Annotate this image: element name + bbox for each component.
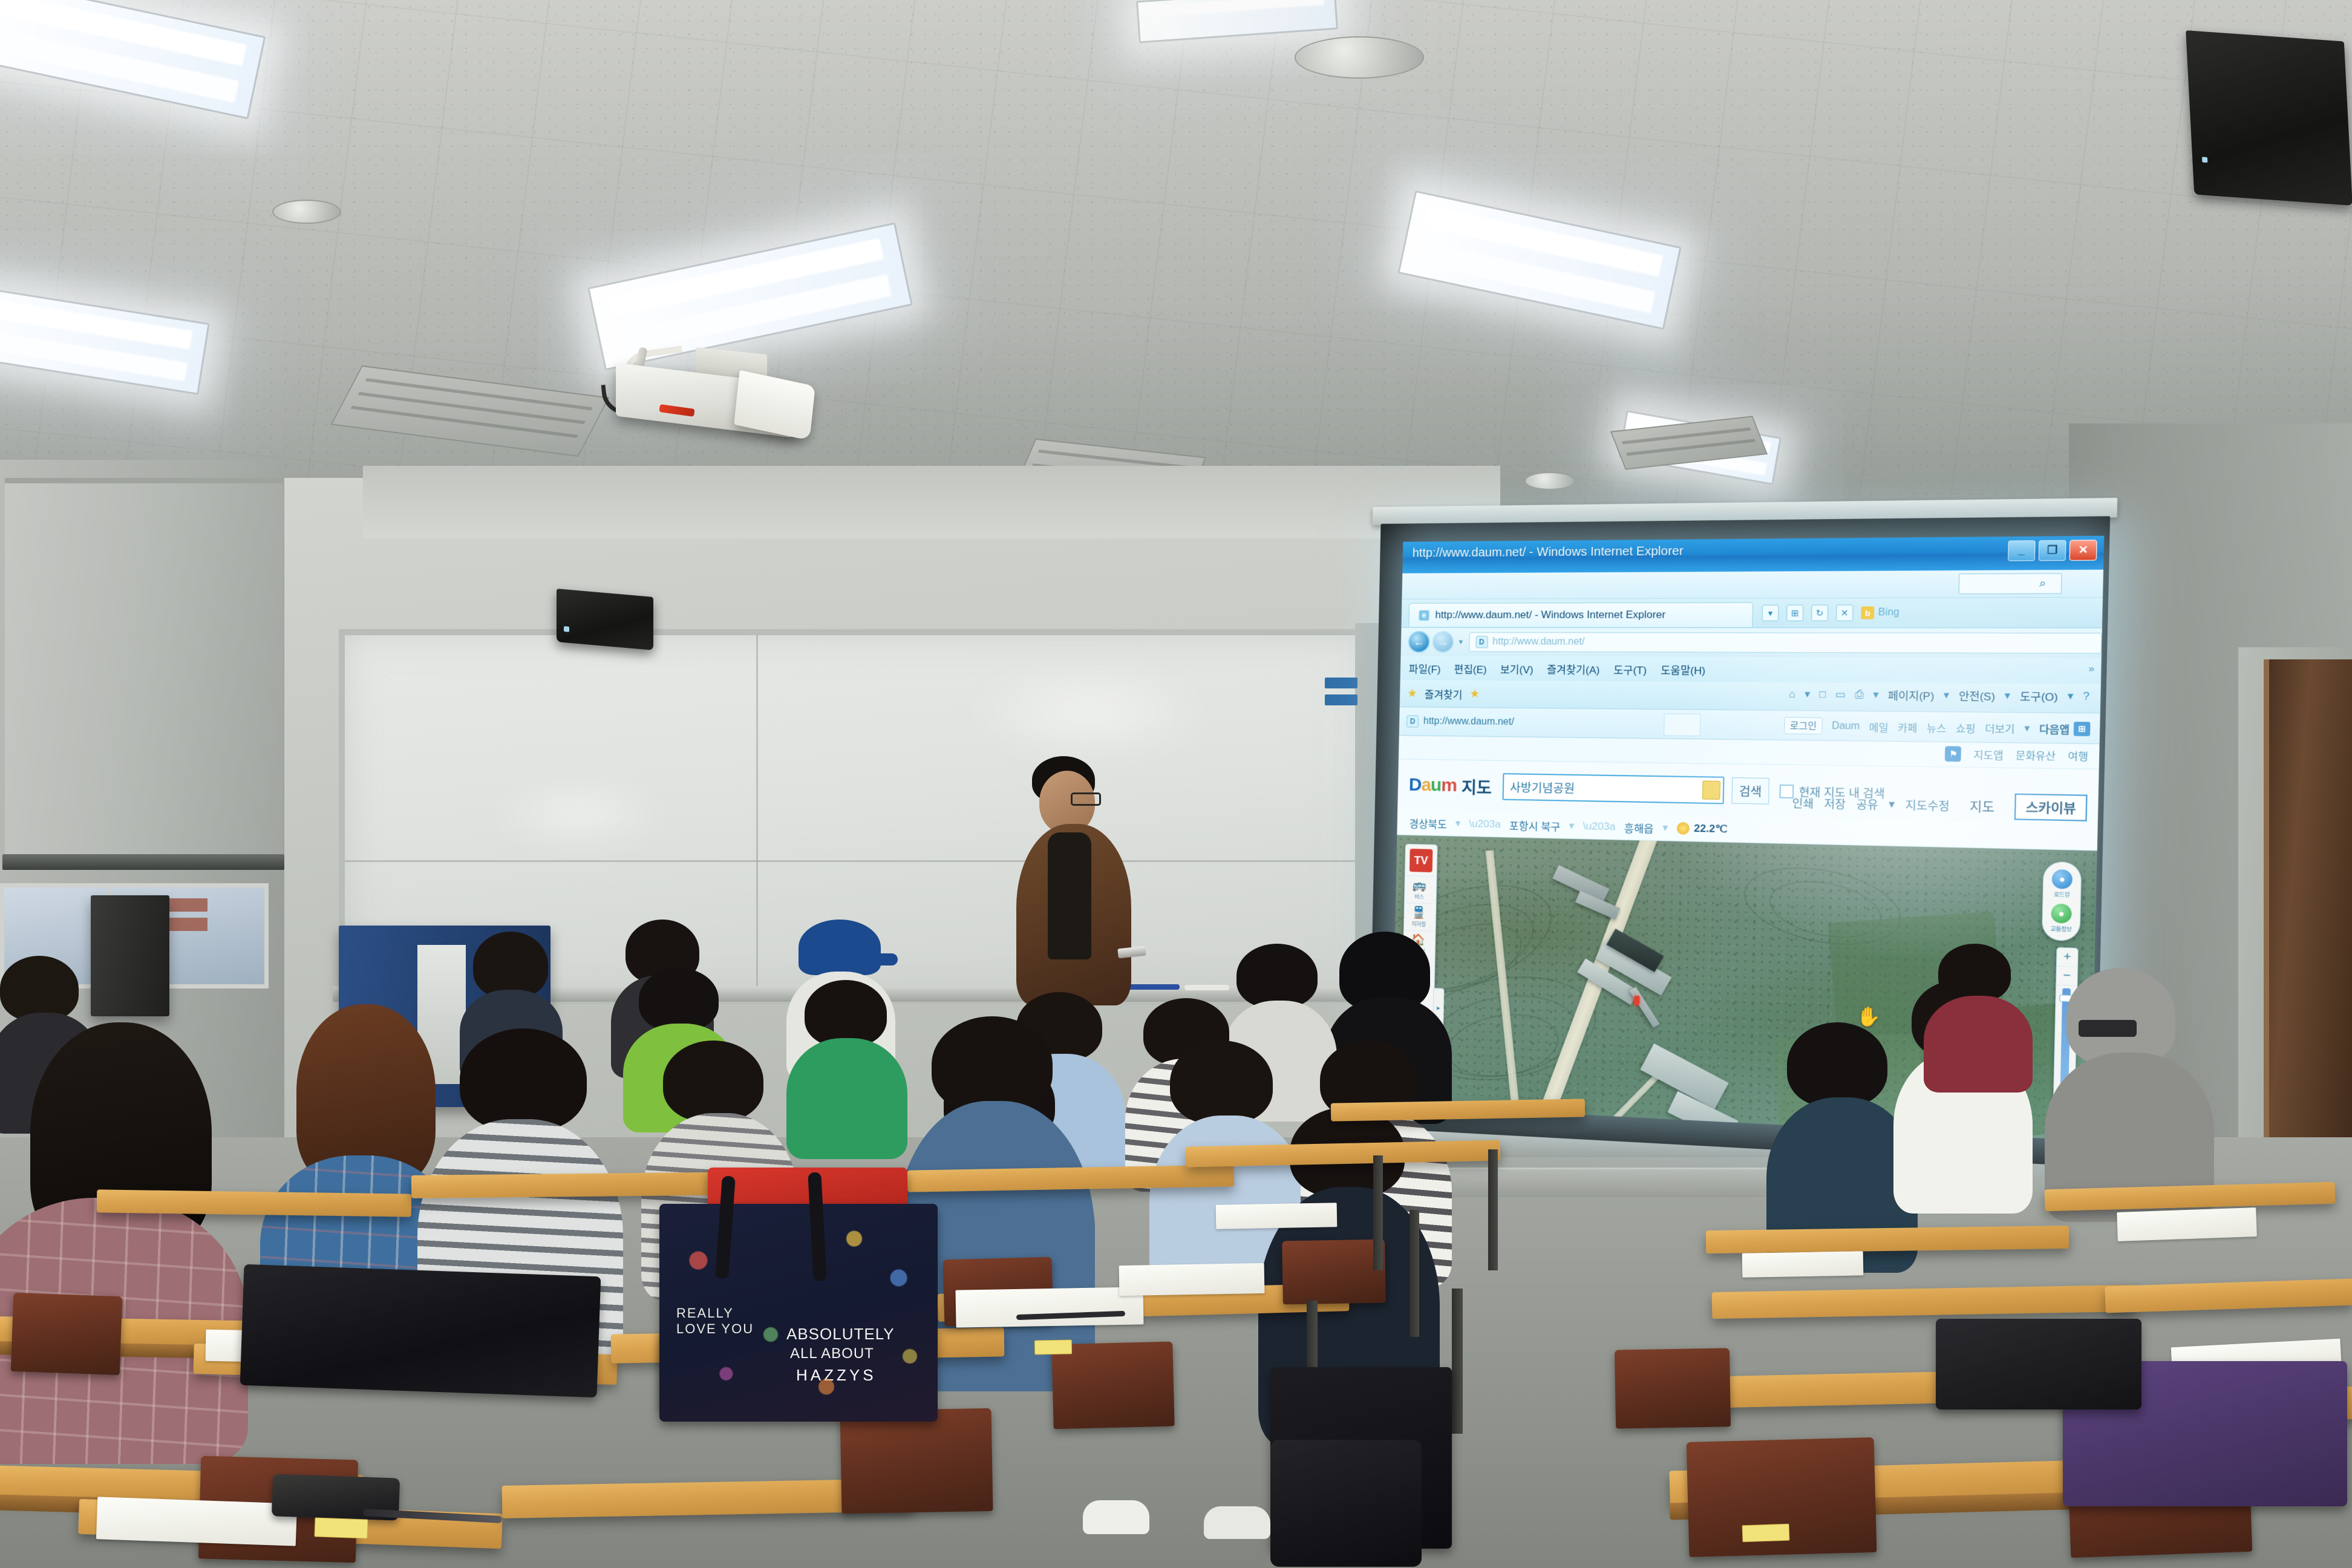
help-icon[interactable]: ? [2083,690,2089,703]
map-location-marker[interactable] [1634,996,1640,1006]
window-roller-blind[interactable] [5,478,283,864]
paper-sheet [1119,1263,1265,1296]
print-caret-icon[interactable]: ▾ [1873,688,1879,701]
search-icon: ⌕ [2039,577,2047,590]
subway-icon: 🚆 [1404,907,1433,920]
desk-leg [1410,1210,1419,1337]
desk-leg [1452,1289,1463,1434]
action-save[interactable]: 저장 [1824,795,1846,812]
tab-label: http://www.daum.net/ - Windows Internet … [1435,609,1665,621]
student-desk [411,1172,750,1198]
menu-item-help[interactable]: 도움말(H) [1661,661,1706,677]
tab-tools: ▾ ⊞ ↻ ✕ b Bing [1762,604,1900,621]
chair-back [1615,1348,1731,1428]
smoke-detector [1524,472,1575,490]
map-pin-icon: ⚑ [1945,746,1961,762]
action-edit-map[interactable]: 지도수정 [1905,796,1950,814]
cap-under-hood-icon [2079,1020,2137,1037]
student [786,980,907,1149]
tab-dropdown-icon[interactable]: ▾ [1762,605,1779,621]
daum-link-cafe[interactable]: 카페 [1898,719,1918,735]
map-action-bar: 인쇄 저장 공유 ▾ 지도수정 지도 스카이뷰 [1792,789,2087,821]
logo-letter-d: D [1409,775,1422,795]
site-favicon: D [1406,715,1419,727]
chair-back [840,1408,993,1514]
ie-logo-icon: e [1419,610,1429,620]
roadview-icon: ● [2051,869,2073,889]
classroom-scene: http://www.daum.net/ - Windows Internet … [0,0,2352,1568]
map-rail-featured-icon[interactable]: TV [1410,849,1433,872]
page-url: D http://www.daum.net/ [1406,715,1514,728]
shoe [1204,1506,1270,1539]
link-travel[interactable]: 여행 [2068,748,2088,763]
home-icon[interactable]: ⌂ [1789,688,1795,701]
tote-bag-graffiti [659,1204,938,1422]
action-print[interactable]: 인쇄 [1792,794,1814,811]
upper-front-wall [363,466,1500,538]
link-map-app[interactable]: 지도앱 [1973,746,2004,762]
map-rail-item-subway[interactable]: 🚆 지하철 [1404,903,1434,931]
feeds-icon[interactable]: □ [1819,688,1826,701]
safety-caret-icon[interactable]: ▾ [2004,689,2010,702]
read-mail-icon[interactable]: ▭ [1835,688,1846,701]
logo-map-text: 지도 [1462,774,1492,798]
bing-icon: b [1861,607,1874,619]
zoom-in-button[interactable]: + [2057,948,2078,967]
logo-letter-m: m [1441,775,1457,795]
breadcrumb-caret-icon[interactable]: ▾ [1662,822,1668,834]
map-search-value: 사방기념공원 [1510,779,1575,796]
bing-search-chip[interactable]: b Bing [1861,606,1900,619]
breadcrumb-city[interactable]: 포항시 북구 [1509,817,1561,834]
breadcrumb-province[interactable]: 경상북도 [1409,815,1447,831]
menu-bar: 파일(F) 편집(E) 보기(V) 즐겨찾기(A) 도구(T) 도움말(H) » [1400,656,2102,684]
address-value: http://www.daum.net/ [1492,636,1585,648]
cap-brim-icon [859,953,898,965]
daum-link-news[interactable]: 뉴스 [1927,719,1947,735]
tote-bag: ABSOLUTELY ALL ABOUT HAZZYS REALLY LOVE … [659,1204,938,1422]
close-button[interactable]: ✕ [2069,540,2097,561]
backpack [240,1264,601,1397]
temperature-value: 22.2℃ [1694,822,1728,835]
bing-label: Bing [1878,607,1899,619]
breadcrumb-town[interactable]: 흥해읍 [1624,820,1654,836]
breadcrumb-caret-icon[interactable]: ▾ [1569,820,1574,832]
page-url-text: http://www.daum.net/ [1423,716,1514,728]
favorites-star-icon[interactable]: ★ [1407,687,1417,701]
map-mode-roadview[interactable]: ● 로드뷰 [2043,866,2080,901]
tab-bar: e http://www.daum.net/ - Windows Interne… [1401,598,2103,629]
daum-app-link[interactable]: 다음앱 ⊞ [2039,720,2091,737]
address-input[interactable]: D http://www.daum.net/ [1469,632,2102,653]
shoe [1083,1500,1149,1534]
paper-sheet [1742,1251,1864,1277]
daum-more-caret-icon[interactable]: ▾ [2024,722,2030,734]
desk-leg [1488,1149,1498,1270]
instructor-glasses [1071,792,1101,806]
mode-label: 교통정보 [2042,924,2079,933]
link-cultural-heritage[interactable]: 문화유산 [2015,747,2056,763]
paper-sheet [96,1497,297,1546]
map-mode-traffic[interactable]: ● 교통정보 [2042,901,2080,936]
history-dropdown-icon[interactable]: ▾ [1459,637,1463,647]
maximize-button[interactable]: ❐ [2039,540,2066,561]
desk-id-tag [1742,1524,1790,1543]
map-search-button[interactable]: 검색 [1731,777,1769,805]
map-rail-item-bus[interactable]: 🚌 버스 [1405,875,1434,903]
new-tab-icon[interactable]: ⊞ [1786,605,1803,621]
minimize-button[interactable]: _ [2008,540,2036,561]
daum-app-label: 다음앱 [2039,720,2070,736]
bus-icon: 🚌 [1405,880,1434,892]
tab-skyview[interactable]: 스카이뷰 [2014,794,2087,822]
student-in-grey-hoodie [2045,968,2214,1210]
breadcrumb-caret-icon[interactable]: ▾ [1455,817,1461,829]
mode-label: 로드뷰 [2043,890,2080,900]
roller-blind-bar[interactable] [2,854,284,870]
daum-link-more[interactable]: 더보기 [1985,720,2015,736]
chair-back [1282,1240,1386,1305]
wall-sign [1325,678,1357,688]
window-controls: _ ❐ ✕ [2008,540,2097,561]
ceiling-projector [599,351,829,460]
refresh-icon[interactable]: ↻ [1811,605,1829,621]
share-caret-icon[interactable]: ▾ [1889,798,1895,811]
bag-on-floor [1270,1440,1422,1567]
daum-global-nav: 로그인 Daum 메일 카페 뉴스 쇼핑 더보기 ▾ 다음앱 ⊞ [1784,717,2091,737]
daum-link-home[interactable]: Daum [1832,720,1860,732]
daum-login-button[interactable]: 로그인 [1784,717,1823,734]
desk-id-tag [314,1517,368,1538]
weather-temperature: 22.2℃ [1677,822,1728,835]
map-mode-toggles: ● 로드뷰 ● 교통정보 [2042,861,2082,941]
stop-icon[interactable]: ✕ [1836,604,1854,621]
student-foreground [0,1022,254,1458]
black-jacket [1936,1319,2141,1410]
add-favorite-icon[interactable]: ★ [1469,687,1480,701]
window-title-bar: http://www.daum.net/ - Windows Internet … [1402,536,2104,573]
search-strip: ⌕ [1402,570,2103,599]
map-search-input[interactable]: 사방기념공원 [1503,773,1725,804]
smoke-detector [272,200,341,224]
logo-letter-a: a [1421,775,1431,795]
desk-leg [1373,1155,1383,1270]
menu-item-edit[interactable]: 편집(E) [1454,661,1487,676]
address-bar-row: ← → ▾ D http://www.daum.net/ [1400,628,2102,658]
desk-id-tag [1034,1339,1072,1354]
wall-speaker [557,589,653,650]
window-title: http://www.daum.net/ - Windows Internet … [1413,544,1684,561]
rail-label: 지하철 [1404,920,1433,929]
traffic-icon: ● [2051,904,2072,924]
menu-item-view[interactable]: 보기(V) [1500,661,1534,676]
instructor-shirt-front [1048,832,1091,959]
blank-toolbar-slot [1664,713,1701,736]
map-service-links: ⚑ 지도앱 문화유산 여행 [1945,746,2088,763]
ie-search-box[interactable]: ⌕ [1959,573,2062,594]
command-bar-right: ⌂ ▾ □ ▭ ⎙ ▾ 페이지(P) ▾ 안전(S) ▾ 도구(O) ▾ ? [1789,686,2090,704]
daum-app-icon: ⊞ [2074,722,2091,736]
action-share[interactable]: 공유 [1856,795,1878,812]
tools-caret-icon[interactable]: ▾ [2068,690,2074,703]
smoke-detector [1295,36,1424,79]
logo-letter-u: u [1431,775,1442,795]
browser-tab[interactable]: e http://www.daum.net/ - Windows Interne… [1408,603,1753,627]
wall-speaker [2186,30,2352,206]
student-desk [97,1189,411,1217]
daum-link-shopping[interactable]: 쇼핑 [1956,720,1976,736]
dropdown-caret-icon[interactable]: ▾ [1805,688,1811,701]
print-icon[interactable]: ⎙ [1855,688,1864,701]
menu-item-tools[interactable]: 도구(T) [1613,661,1647,677]
tab-map-view[interactable]: 지도 [1960,794,2004,818]
instructor [1010,756,1149,1010]
chair-back [11,1293,122,1375]
forward-button[interactable]: → [1432,631,1454,653]
daum-map-logo[interactable]: Daum 지도 [1408,773,1492,799]
command-safety-menu[interactable]: 안전(S) [1959,687,1996,704]
page-caret-icon[interactable]: ▾ [1944,689,1950,702]
chair-back [1051,1342,1174,1429]
instructor-remote [1117,946,1146,959]
daum-link-mail[interactable]: 메일 [1869,719,1889,734]
sun-icon [1677,822,1690,835]
favorites-label[interactable]: 즐겨찾기 [1425,686,1463,702]
command-page-menu[interactable]: 페이지(P) [1888,687,1935,703]
rail-label: 버스 [1405,892,1434,901]
keyboard-icon[interactable] [1702,780,1720,800]
paper-sheet [1216,1203,1338,1229]
site-favicon: D [1475,636,1488,648]
menu-item-file[interactable]: 파일(F) [1409,661,1441,676]
student [1924,944,2033,1083]
paper-sheet [2117,1207,2257,1241]
paper-sheet [955,1287,1143,1327]
menu-item-favorites[interactable]: 즐겨찾기(A) [1547,661,1600,676]
menu-overflow-icon[interactable]: » [2088,664,2094,675]
command-tools-menu[interactable]: 도구(O) [2020,688,2059,704]
wall-sign [1325,694,1357,705]
back-button[interactable]: ← [1408,631,1429,653]
